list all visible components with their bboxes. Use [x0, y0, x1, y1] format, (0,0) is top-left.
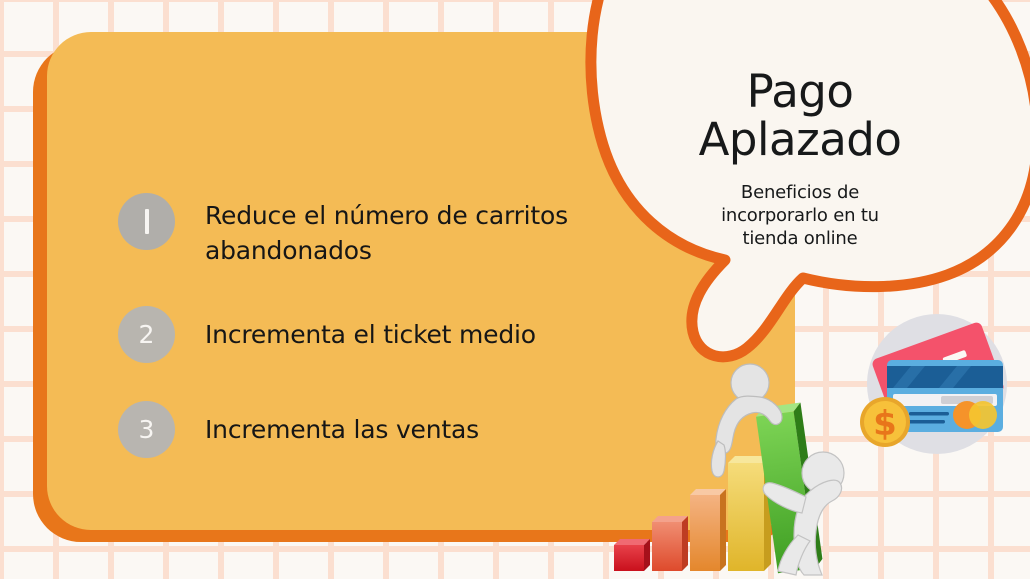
credit-cards-illustration: $ [845, 298, 1025, 478]
benefit-text-2: Incrementa el ticket medio [205, 318, 536, 353]
infographic-canvas: Reduce el número de carritos abandonados… [0, 0, 1030, 579]
benefit-number-badge-2: 2 [118, 306, 175, 363]
growth-bar-chart-illustration [600, 355, 850, 579]
benefit-number-badge-1 [118, 193, 175, 250]
benefits-list: Reduce el número de carritos abandonados… [118, 193, 588, 458]
list-item: Reduce el número de carritos abandonados [118, 193, 588, 268]
dollar-coin: $ [860, 397, 910, 447]
coin-dollar-symbol: $ [873, 404, 897, 444]
benefit-text-3: Incrementa las ventas [205, 413, 479, 448]
bar-2 [652, 516, 688, 571]
benefit-number-label-2: 2 [139, 322, 155, 347]
numeral-one-glyph [145, 209, 149, 234]
benefit-text-1: Reduce el número de carritos abandonados [205, 199, 588, 268]
benefit-number-badge-3: 3 [118, 401, 175, 458]
list-item: 2 Incrementa el ticket medio [118, 306, 588, 363]
bar-1 [614, 539, 650, 571]
bar-3 [690, 489, 726, 571]
benefit-number-label-3: 3 [139, 417, 155, 442]
list-item: 3 Incrementa las ventas [118, 401, 588, 458]
